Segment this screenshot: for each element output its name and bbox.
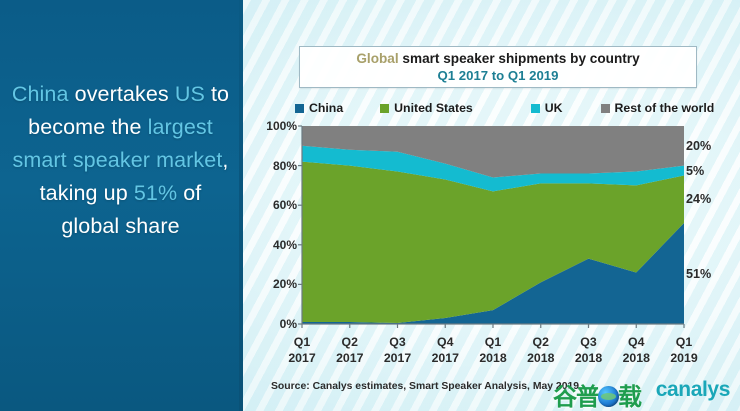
x-axis-label: Q12018 — [479, 334, 506, 366]
x-axis-label-quarter: Q3 — [575, 334, 602, 350]
x-axis-label-quarter: Q2 — [527, 334, 554, 350]
plot-area: 0%20%40%60%80%100% 20%5%24%51% Q12017Q22… — [243, 0, 740, 411]
x-axis-label-year: 2018 — [623, 350, 650, 366]
x-axis-label-year: 2017 — [384, 350, 411, 366]
headline-segment-0: China — [12, 82, 69, 106]
x-axis-label-year: 2019 — [670, 350, 697, 366]
x-axis-label: Q22018 — [527, 334, 554, 366]
headline-text: China overtakes US to become the largest… — [8, 78, 233, 243]
y-axis-label: 40% — [273, 238, 297, 252]
watermark-logo: 谷普载 — [553, 377, 641, 411]
watermark-text-right: 载 — [618, 377, 641, 411]
x-axis-label: Q12019 — [670, 334, 697, 366]
x-axis-label: Q32017 — [384, 334, 411, 366]
x-axis-label-quarter: Q1 — [670, 334, 697, 350]
canalys-logo: canalys — [656, 378, 730, 402]
x-axis-label-quarter: Q1 — [288, 334, 315, 350]
x-axis-label-year: 2018 — [479, 350, 506, 366]
x-axis-label: Q42018 — [623, 334, 650, 366]
headline-segment-1: overtakes — [69, 82, 175, 106]
right-value-label-rest-of-the-world: 20% — [686, 139, 711, 153]
right-value-label-china: 51% — [686, 267, 711, 281]
x-axis-label-quarter: Q1 — [479, 334, 506, 350]
x-axis-label-year: 2018 — [575, 350, 602, 366]
x-axis-label-year: 2017 — [288, 350, 315, 366]
right-value-label-uk: 5% — [686, 164, 704, 178]
source-note: Source: Canalys estimates, Smart Speaker… — [271, 381, 579, 392]
right-value-label-united-states: 24% — [686, 192, 711, 206]
x-axis-label: Q42017 — [432, 334, 459, 366]
watermark-text-left: 谷普 — [553, 377, 599, 411]
x-axis-label-quarter: Q4 — [623, 334, 650, 350]
x-axis-label: Q22017 — [336, 334, 363, 366]
x-axis-label: Q12017 — [288, 334, 315, 366]
chart-panel: Global smart speaker shipments by countr… — [243, 0, 740, 411]
globe-icon — [598, 386, 619, 407]
x-axis-label: Q32018 — [575, 334, 602, 366]
y-axis-label: 80% — [273, 159, 297, 173]
y-axis-label: 100% — [266, 119, 297, 133]
y-axis-label: 60% — [273, 198, 297, 212]
x-axis-label-quarter: Q2 — [336, 334, 363, 350]
x-axis-label-year: 2017 — [336, 350, 363, 366]
x-axis-label-quarter: Q4 — [432, 334, 459, 350]
x-axis-labels: Q12017Q22017Q32017Q42017Q12018Q22018Q320… — [243, 334, 740, 374]
slide-root: China overtakes US to become the largest… — [0, 0, 740, 411]
y-axis-label: 0% — [280, 317, 297, 331]
y-axis-label: 20% — [273, 277, 297, 291]
x-axis-label-quarter: Q3 — [384, 334, 411, 350]
headline-segment-2: US — [175, 82, 205, 106]
left-quote-panel: China overtakes US to become the largest… — [0, 0, 243, 411]
x-axis-label-year: 2018 — [527, 350, 554, 366]
headline-segment-6: 51% — [134, 181, 177, 205]
x-axis-label-year: 2017 — [432, 350, 459, 366]
